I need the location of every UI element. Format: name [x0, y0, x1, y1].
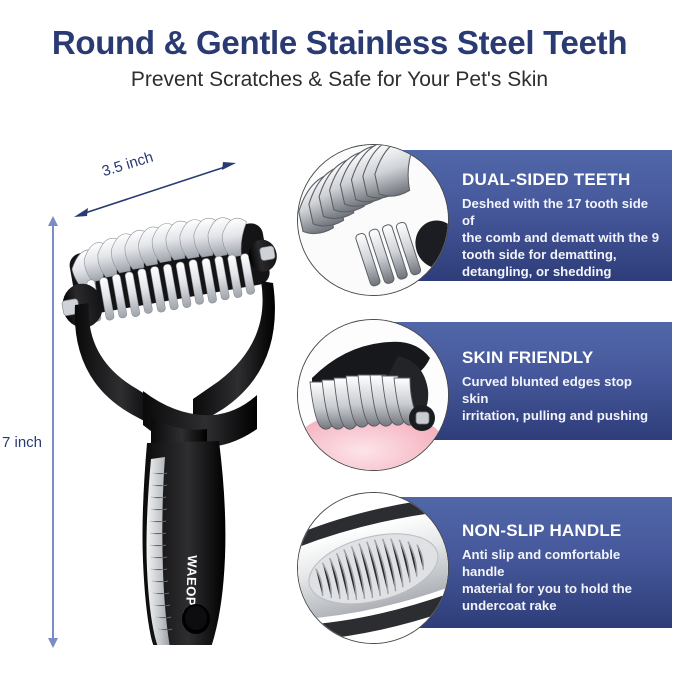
feature-card-text-3: NON-SLIP HANDLE Anti slip and comfortabl…	[462, 497, 662, 628]
feature-body-1: Deshed with the 17 tooth side of the com…	[462, 196, 662, 280]
feature-body-2: Curved blunted edges stop skin irritatio…	[462, 374, 662, 425]
feature-body-3: Anti slip and comfortable handle materia…	[462, 547, 662, 615]
feature-photo-ribbed-grip-closeup	[297, 492, 449, 644]
feature-photo-comb-teeth-closeup	[297, 144, 449, 296]
feature-photo-rake-on-skin	[297, 319, 449, 471]
comb-teeth-photo-icon	[298, 145, 448, 295]
page-subtitle: Prevent Scratches & Safe for Your Pet's …	[0, 68, 679, 92]
feature-title-3: NON-SLIP HANDLE	[462, 521, 621, 541]
ribbed-grip-photo-icon	[298, 493, 448, 643]
infographic-canvas: Round & Gentle Stainless Steel Teeth Pre…	[0, 0, 679, 679]
rake-on-skin-photo-icon	[298, 320, 448, 470]
height-dimension-line	[52, 222, 54, 645]
feature-title-2: SKIN FRIENDLY	[462, 348, 593, 368]
product-rake-illustration: WAEOPQM	[55, 185, 300, 645]
height-dimension-label: 7 inch	[2, 434, 42, 451]
feature-card-text-1: DUAL-SIDED TEETH Deshed with the 17 toot…	[462, 150, 662, 281]
feature-title-1: DUAL-SIDED TEETH	[462, 170, 630, 190]
page-title: Round & Gentle Stainless Steel Teeth	[0, 24, 679, 62]
feature-card-text-2: SKIN FRIENDLY Curved blunted edges stop …	[462, 322, 662, 440]
